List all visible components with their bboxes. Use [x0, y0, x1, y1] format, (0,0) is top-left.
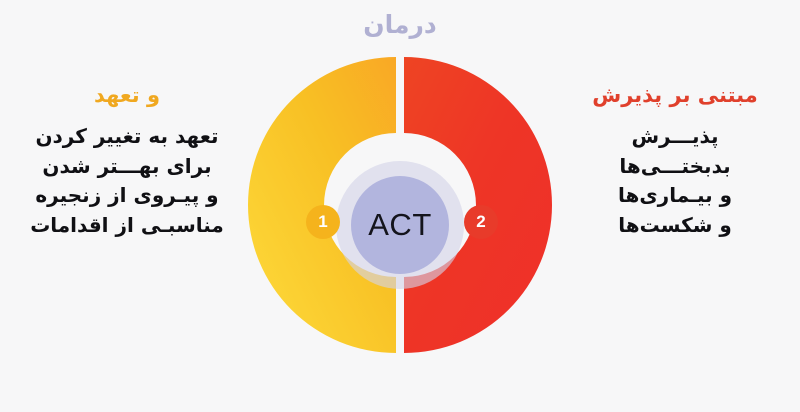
infographic-canvas: درمان — [0, 0, 800, 412]
center-core-circle: ACT — [351, 176, 449, 274]
panel-right-line-2: بدبختـــی‌ها — [560, 152, 790, 182]
panel-right-line-3: و بیـماری‌ها — [560, 181, 790, 211]
panel-right: مبتنی بر پذیرش پذیـــرش بدبختـــی‌ها و ب… — [560, 82, 790, 241]
panel-left-line-1: تعهد به تغییر کردن — [12, 122, 242, 152]
panel-left-body: تعهد به تغییر کردن برای بهـــتر شدن و پی… — [12, 122, 242, 240]
center-label: ACT — [368, 207, 432, 243]
panel-left: و تعهد تعهد به تغییر کردن برای بهـــتر ش… — [12, 82, 242, 241]
step-badge-1[interactable]: 1 — [306, 205, 340, 239]
step-badge-2[interactable]: 2 — [464, 205, 498, 239]
diagram-title: درمان — [0, 10, 800, 40]
panel-right-line-1: پذیـــرش — [560, 122, 790, 152]
panel-left-line-3: و پیـروی از زنجیره — [12, 181, 242, 211]
panel-right-body: پذیـــرش بدبختـــی‌ها و بیـماری‌ها و شکس… — [560, 122, 790, 240]
panel-right-header: مبتنی بر پذیرش — [560, 82, 790, 108]
step-badge-1-label: 1 — [318, 212, 327, 232]
step-badge-2-label: 2 — [476, 212, 485, 232]
panel-left-header: و تعهد — [12, 82, 242, 108]
panel-right-line-4: و شکست‌ها — [560, 211, 790, 241]
panel-left-line-2: برای بهـــتر شدن — [12, 152, 242, 182]
panel-left-line-4: مناسبـی از اقدامات — [12, 211, 242, 241]
